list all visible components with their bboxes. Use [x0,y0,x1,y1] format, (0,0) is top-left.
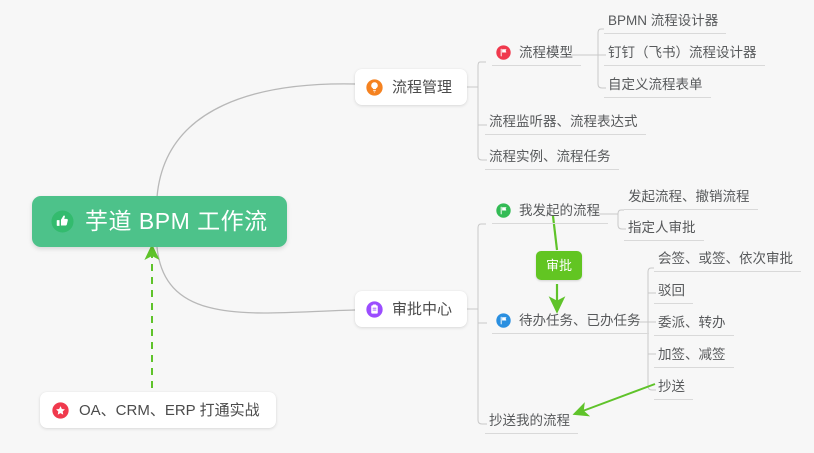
node-label: 流程实例、流程任务 [489,150,611,164]
flag-icon [496,45,511,60]
annotation-label: 审批 [546,258,572,273]
node-delegate-transfer[interactable]: 委派、转办 [654,314,734,336]
branch-node-approval-center[interactable]: 审批中心 [355,291,467,327]
node-label: BPMN 流程设计器 [608,14,718,28]
node-process-listener[interactable]: 流程监听器、流程表达式 [485,113,646,135]
node-label: 加签、减签 [658,348,726,362]
node-label: 抄送 [658,380,685,394]
annotation-approve-label: 审批 [536,251,582,280]
callout-node-integration[interactable]: OA、CRM、ERP 打通实战 [40,392,276,428]
node-reject[interactable]: 驳回 [654,282,693,304]
node-label: 发起流程、撤销流程 [628,190,750,204]
node-label: 委派、转办 [658,316,726,330]
clipboard-icon [366,301,383,318]
node-label: 驳回 [658,284,685,298]
flag-icon [496,313,511,328]
node-label: 待办任务、已办任务 [519,314,641,328]
node-countersign[interactable]: 会签、或签、依次审批 [654,250,801,272]
edge-approval-spine [478,224,487,424]
node-dingtalk-feishu-designer[interactable]: 钉钉（飞书）流程设计器 [604,44,765,66]
node-cc-my-process[interactable]: 抄送我的流程 [485,412,578,434]
node-assigned-approver[interactable]: 指定人审批 [624,219,704,241]
node-add-remove-sign[interactable]: 加签、减签 [654,346,734,368]
root-node[interactable]: 芋道 BPM 工作流 [32,196,287,247]
node-cc[interactable]: 抄送 [654,378,693,400]
root-label: 芋道 BPM 工作流 [85,210,268,233]
node-custom-process-form[interactable]: 自定义流程表单 [604,76,711,98]
branch-label-process-management: 流程管理 [392,80,452,95]
callout-label: OA、CRM、ERP 打通实战 [79,403,260,418]
annotation-arrow-cc [580,384,655,412]
node-label: 我发起的流程 [519,204,600,218]
node-my-started-process[interactable]: 我发起的流程 [492,202,608,224]
branch-node-process-management[interactable]: 流程管理 [355,69,467,105]
node-todo-done-tasks[interactable]: 待办任务、已办任务 [492,312,649,334]
node-bpmn-designer[interactable]: BPMN 流程设计器 [604,12,726,34]
edge-root-to-process [157,84,355,197]
flag-icon [496,203,511,218]
mindmap-canvas: 芋道 BPM 工作流 流程管理 流程模型 流程监听器、流程表达式 流程实例、流程… [0,0,814,453]
node-label: 抄送我的流程 [489,414,570,428]
branch-label-approval-center: 审批中心 [392,302,452,317]
lightbulb-icon [366,79,383,96]
node-label: 钉钉（飞书）流程设计器 [608,46,757,60]
node-process-model[interactable]: 流程模型 [492,44,581,66]
star-icon [52,402,69,419]
node-label: 流程监听器、流程表达式 [489,115,638,129]
edge-root-to-approval [157,247,355,313]
node-label: 流程模型 [519,46,573,60]
thumbs-up-icon [51,210,74,233]
node-label: 指定人审批 [628,221,696,235]
node-start-cancel-process[interactable]: 发起流程、撤销流程 [624,188,758,210]
node-label: 自定义流程表单 [608,78,703,92]
edge-process-spine [478,62,487,160]
node-process-instance[interactable]: 流程实例、流程任务 [485,148,619,170]
node-label: 会签、或签、依次审批 [658,252,793,266]
